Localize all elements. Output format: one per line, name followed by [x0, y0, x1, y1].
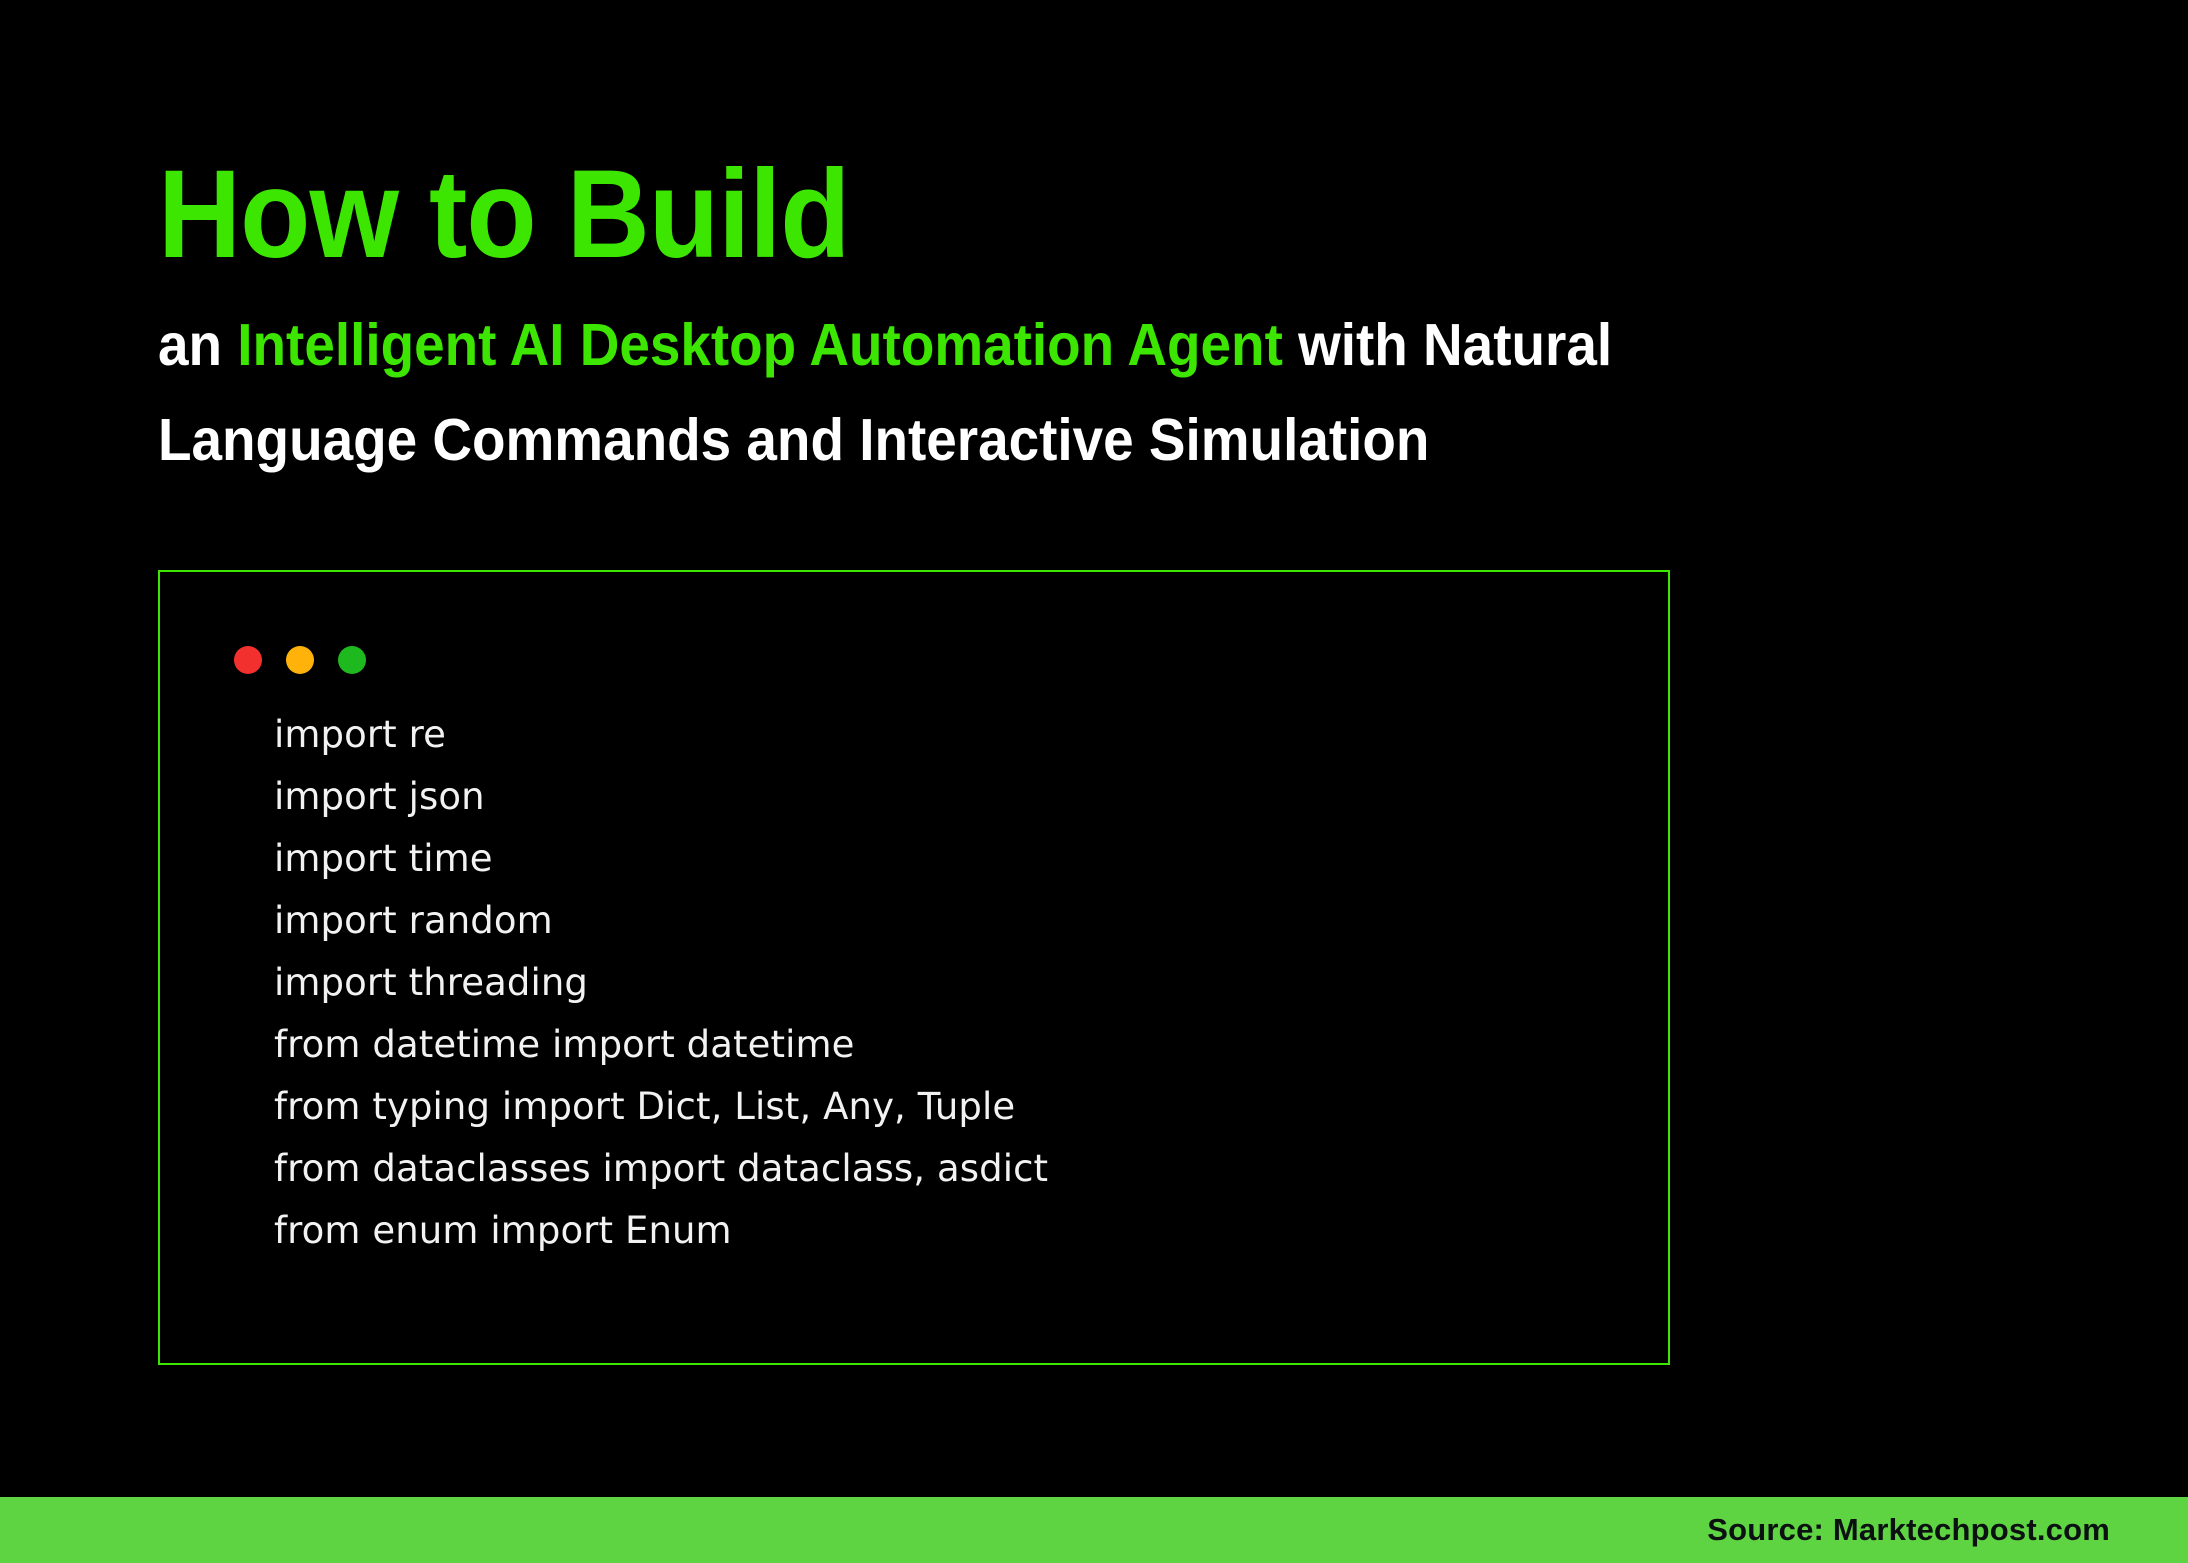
code-line: import time [274, 828, 1648, 890]
window-controls [234, 646, 366, 674]
subtitle-accent-text: Intelligent AI Desktop Automation Agent [237, 312, 1283, 378]
code-window: import reimport jsonimport timeimport ra… [158, 570, 1670, 1365]
footer-bar: Source: Marktechpost.com [0, 1497, 2188, 1563]
maximize-dot-icon[interactable] [338, 646, 366, 674]
source-attribution: Source: Marktechpost.com [1707, 1512, 2188, 1548]
page-title: How to Build [158, 152, 850, 277]
code-line: import json [274, 766, 1648, 828]
code-line: from typing import Dict, List, Any, Tupl… [274, 1076, 1648, 1138]
code-line: import random [274, 890, 1648, 952]
close-dot-icon[interactable] [234, 646, 262, 674]
code-block: import reimport jsonimport timeimport ra… [274, 704, 1648, 1262]
code-line: import re [274, 704, 1648, 766]
slide-canvas: How to Build an Intelligent AI Desktop A… [0, 0, 2188, 1563]
subtitle-lead-text: an [158, 312, 237, 378]
code-line: from dataclasses import dataclass, asdic… [274, 1138, 1648, 1200]
code-line: from enum import Enum [274, 1200, 1648, 1262]
minimize-dot-icon[interactable] [286, 646, 314, 674]
code-line: import threading [274, 952, 1648, 1014]
code-line: from datetime import datetime [274, 1014, 1648, 1076]
page-subtitle: an Intelligent AI Desktop Automation Age… [158, 298, 1832, 488]
